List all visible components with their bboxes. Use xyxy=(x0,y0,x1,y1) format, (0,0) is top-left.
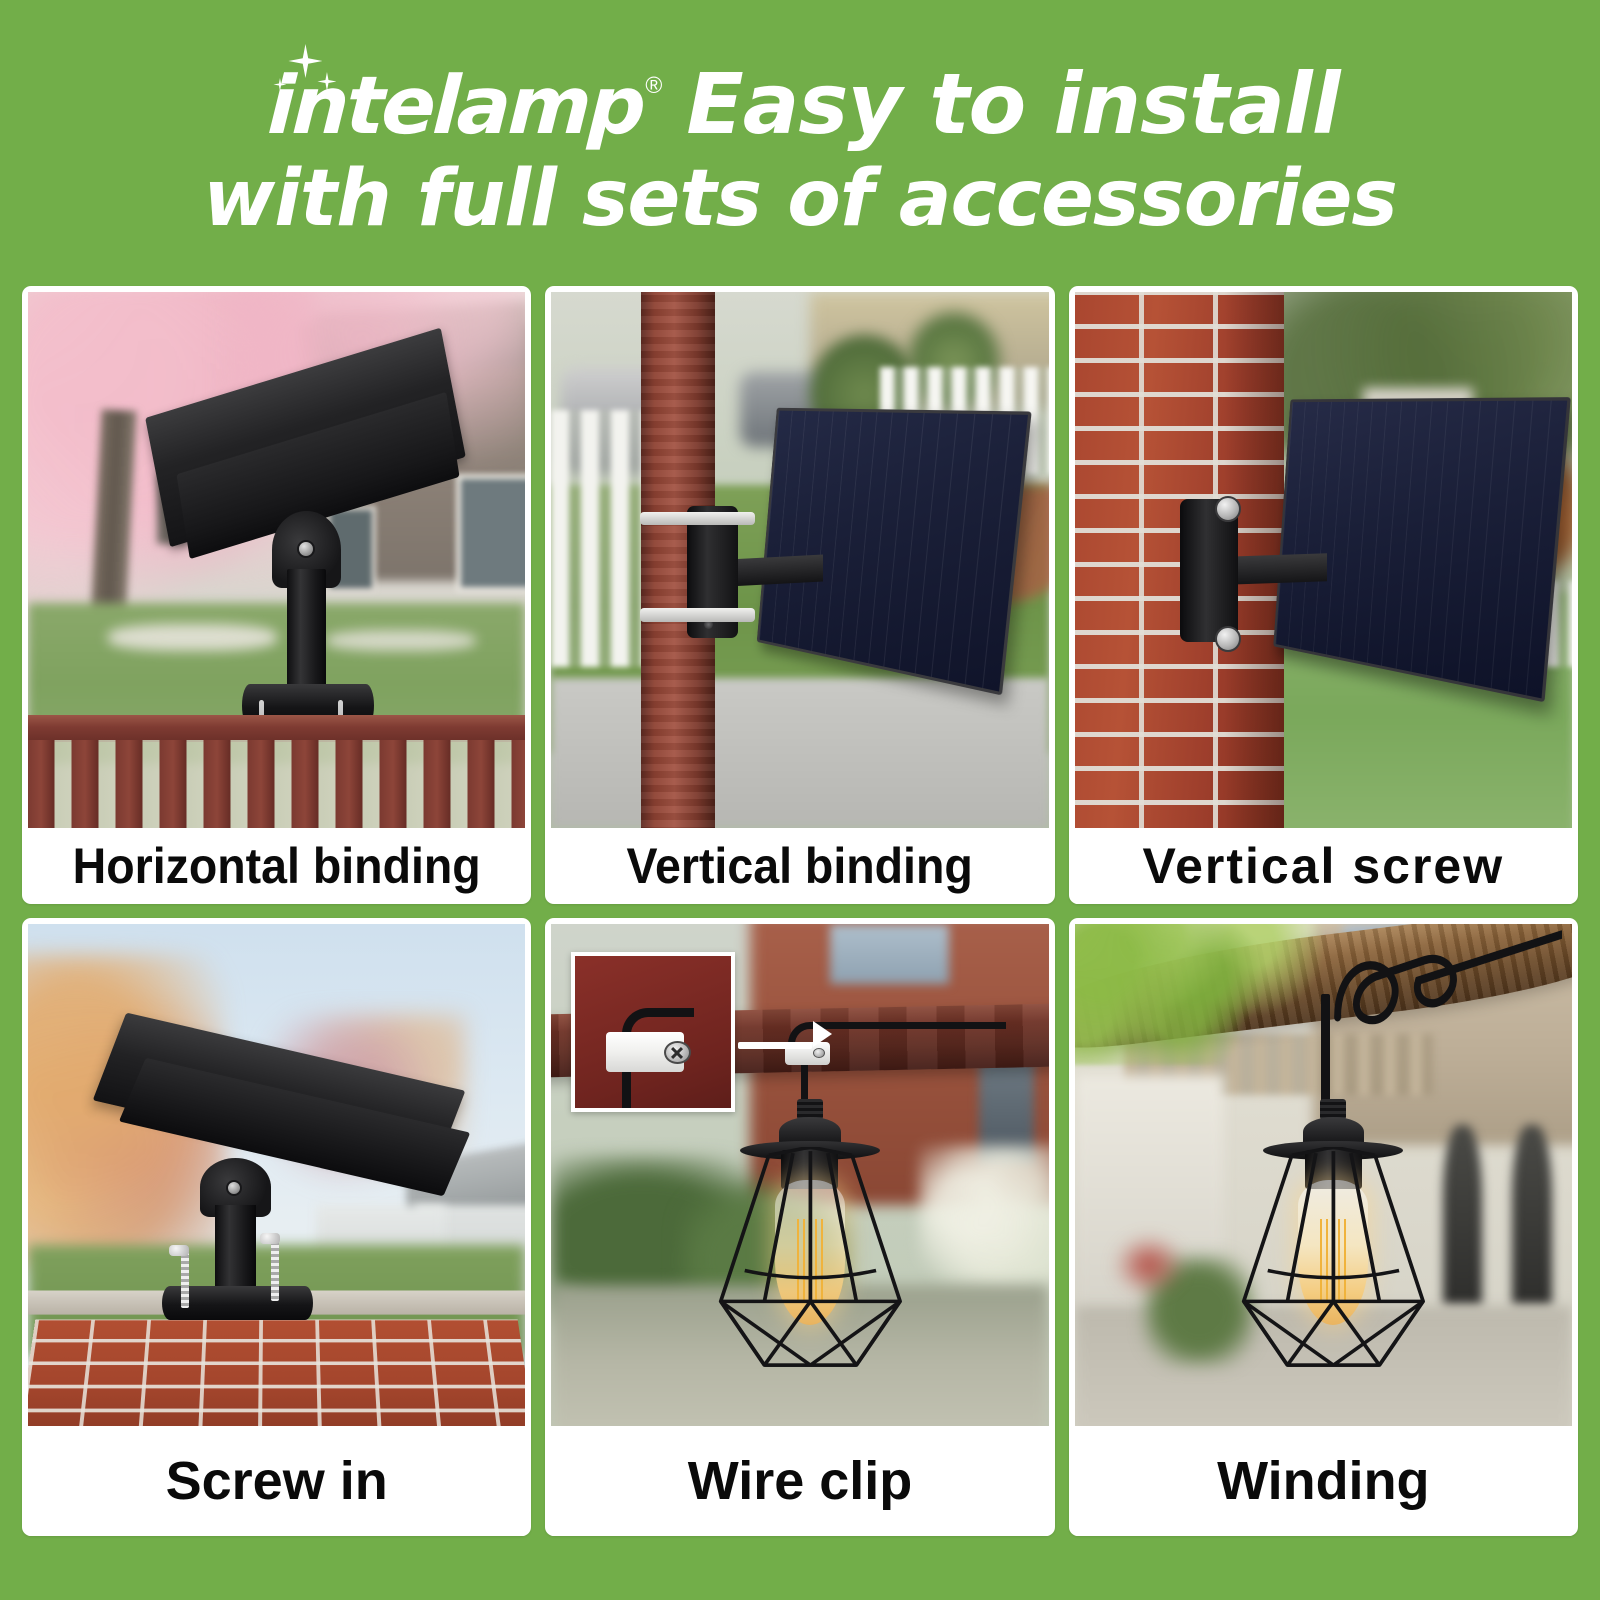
arrow-shaft xyxy=(738,1042,812,1049)
cable-tie xyxy=(640,608,755,622)
house-window xyxy=(456,474,526,592)
caption-horizontal-binding: Horizontal binding xyxy=(45,828,508,904)
patio-column xyxy=(1512,1125,1552,1306)
cage-pendant-lamp xyxy=(1224,1105,1443,1406)
cable-tie xyxy=(640,512,755,526)
headline-line-1: Easy to install xyxy=(686,62,1339,146)
hinge-bolt xyxy=(226,1180,242,1196)
wire-cage-shade xyxy=(701,1147,920,1394)
photo-wire-clip xyxy=(551,924,1048,1426)
arrow-right-icon xyxy=(738,1037,832,1052)
cage-pendant-lamp xyxy=(701,1105,920,1406)
hinge-bolt xyxy=(297,540,315,558)
patio-furniture xyxy=(1114,1235,1184,1295)
grid-cell-screw-in[interactable]: Screw in xyxy=(22,918,531,1536)
railing-top-rail xyxy=(28,715,525,742)
feature-grid: Horizontal binding xyxy=(22,286,1578,1536)
solar-panel-mount xyxy=(681,410,1019,710)
mounting-screw-head xyxy=(260,1233,280,1244)
tree-leaves xyxy=(1075,924,1363,1065)
caption-vertical-binding: Vertical binding xyxy=(569,828,1032,904)
railing-balusters xyxy=(28,740,525,828)
photo-horizontal-binding xyxy=(28,292,525,828)
headline-row-primary: intelamp® Easy to install xyxy=(0,34,1600,146)
solar-panel-mount xyxy=(1164,399,1552,710)
inset-screw-icon xyxy=(664,1041,691,1064)
brand-logo: intelamp® xyxy=(260,66,660,146)
grid-cell-vertical-binding[interactable]: Vertical binding xyxy=(545,286,1054,904)
registered-trademark-mark: ® xyxy=(645,72,662,98)
photo-vertical-binding xyxy=(551,292,1048,828)
patio-column xyxy=(1443,1125,1483,1306)
bracket-arm xyxy=(728,554,823,586)
bracket-post xyxy=(215,1205,257,1298)
caption-wire-clip: Wire clip xyxy=(551,1426,1048,1536)
deck-railing xyxy=(28,715,525,828)
wire-clip-detail-inset xyxy=(571,952,735,1113)
mounting-screw xyxy=(181,1252,189,1308)
grid-cell-winding[interactable]: Winding xyxy=(1069,918,1578,1536)
solar-panel xyxy=(757,408,1032,696)
mounting-screw xyxy=(1215,496,1241,522)
lamp-cord xyxy=(1321,994,1330,1114)
bracket-post xyxy=(287,569,326,696)
mounting-screw-head xyxy=(169,1245,189,1256)
photo-winding xyxy=(1075,924,1572,1426)
headline-row-secondary: with full sets of accessories xyxy=(0,160,1600,238)
grid-cell-vertical-screw[interactable]: Vertical screw xyxy=(1069,286,1578,904)
caption-screw-in: Screw in xyxy=(28,1426,525,1536)
brand-wordmark: intelamp xyxy=(266,66,645,146)
grid-cell-wire-clip[interactable]: Wire clip xyxy=(545,918,1054,1536)
caption-winding: Winding xyxy=(1075,1426,1572,1536)
house-window xyxy=(830,924,949,984)
photo-vertical-screw xyxy=(1075,292,1572,828)
header-banner: intelamp® Easy to install with full sets… xyxy=(0,0,1600,282)
solar-panel-mount xyxy=(137,356,465,742)
mounting-screw xyxy=(271,1239,279,1301)
mounting-screw xyxy=(1215,626,1241,652)
wire-cage-shade xyxy=(1224,1147,1443,1394)
arrow-head xyxy=(813,1021,832,1047)
wound-lamp-cord xyxy=(1333,929,1562,1039)
caption-vertical-screw: Vertical screw xyxy=(1075,828,1572,904)
bracket-arm xyxy=(1226,553,1327,584)
solar-panel xyxy=(1273,397,1571,702)
grid-cell-horizontal-binding[interactable]: Horizontal binding xyxy=(22,286,531,904)
photo-screw-in xyxy=(28,924,525,1426)
headline-line-2: with full sets of accessories xyxy=(203,160,1397,238)
solar-panel-mount xyxy=(98,1024,476,1335)
